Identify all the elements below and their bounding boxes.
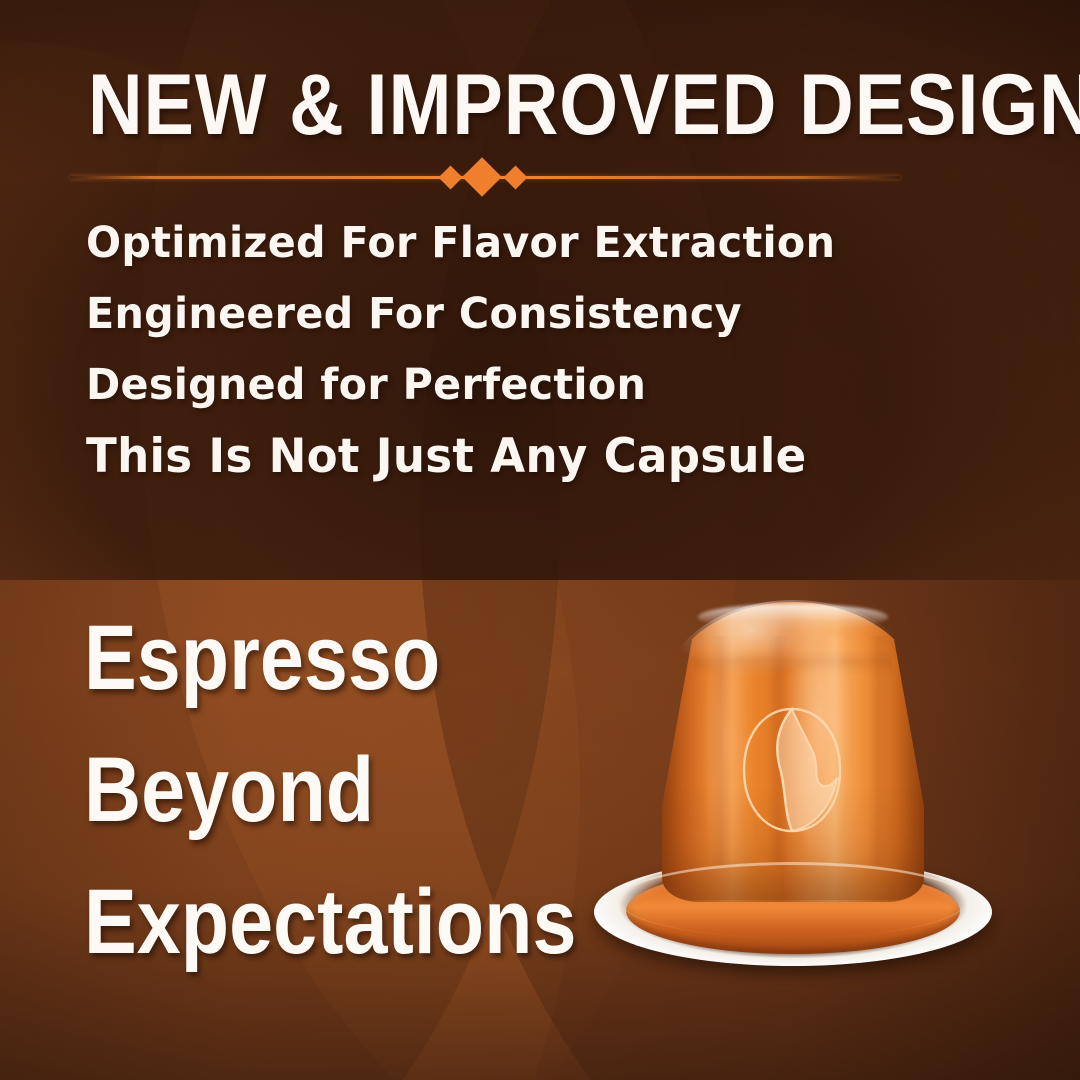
promo-poster: NEW & IMPROVED DESIGN Optimized For Flav… xyxy=(0,0,1080,1080)
espresso-capsule-image xyxy=(588,596,1000,976)
tagline-line: Beyond xyxy=(84,724,566,856)
diamond-right-icon xyxy=(503,165,527,189)
tagline-line: Espresso xyxy=(84,592,566,724)
page-title: NEW & IMPROVED DESIGN xyxy=(88,62,880,148)
feature-item: Designed for Perfection xyxy=(86,350,931,421)
feature-item: This Is Not Just Any Capsule xyxy=(86,421,931,492)
tagline-block: Espresso Beyond Expectations xyxy=(84,592,644,988)
feature-item: Engineered For Consistency xyxy=(86,279,931,350)
feature-item: Optimized For Flavor Extraction xyxy=(86,208,931,279)
diamond-center-icon xyxy=(462,157,502,197)
divider-ornament xyxy=(70,160,900,194)
capsule-body xyxy=(662,602,924,902)
diamond-left-icon xyxy=(438,165,462,189)
tagline-line: Expectations xyxy=(84,856,566,988)
feature-list: Optimized For Flavor Extraction Engineer… xyxy=(86,208,966,492)
capsule-rim-highlight xyxy=(618,862,968,938)
